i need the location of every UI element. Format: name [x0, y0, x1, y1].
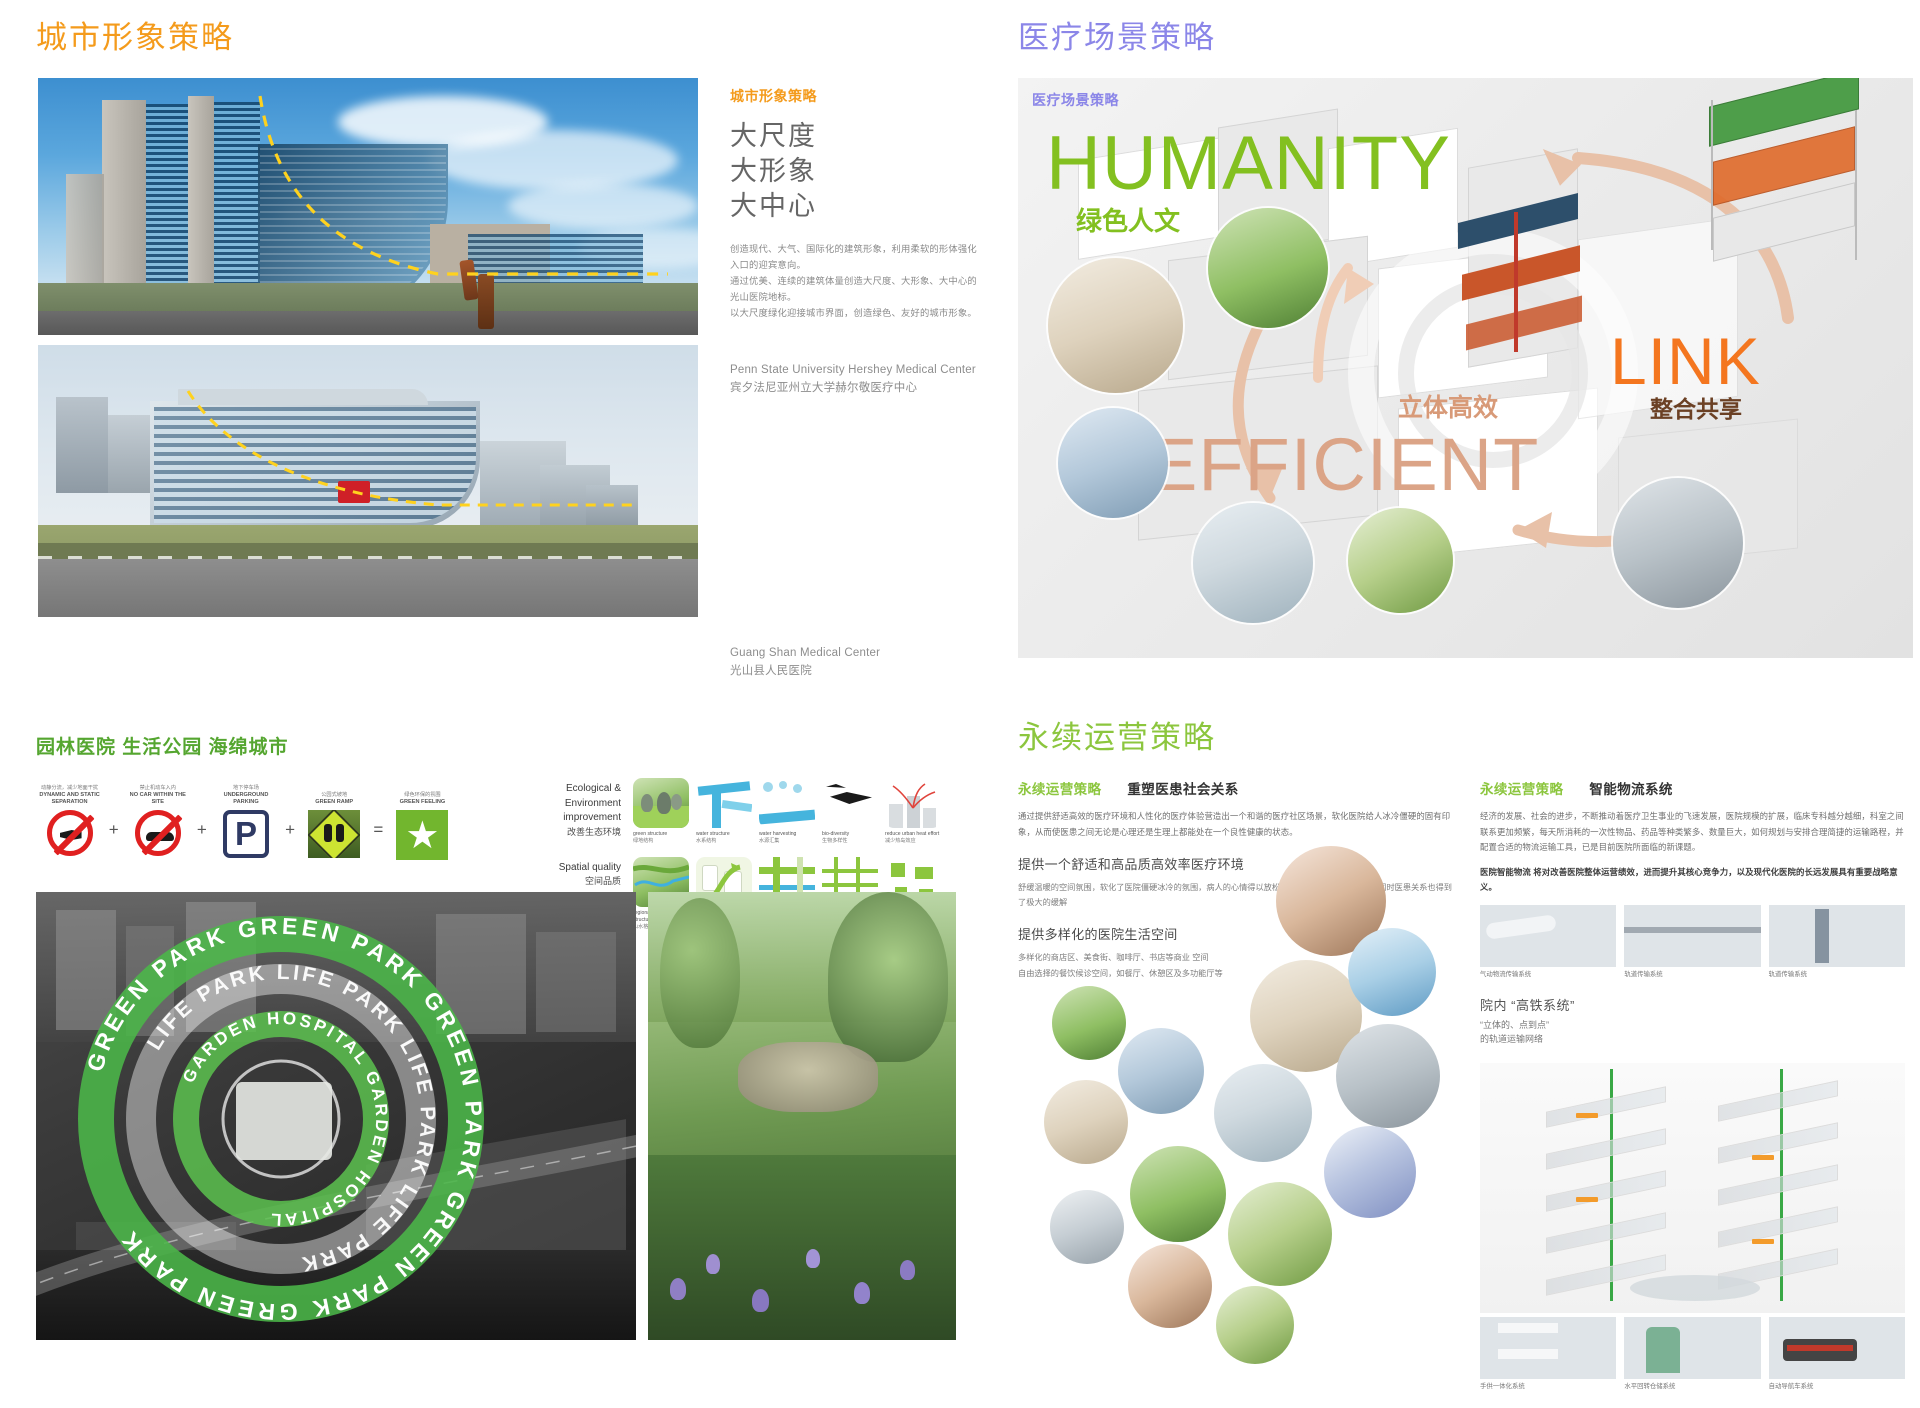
logistics-thumb: 水平回转仓储系统 [1624, 1317, 1760, 1391]
garden-heading: 园林医院 生活公园 海绵城市 [36, 732, 289, 759]
exploded-module-diagram [1679, 88, 1889, 268]
eq-item-parking: 地下停车场 UNDERGROUND PARKING P [212, 785, 279, 858]
no-car-icon [132, 810, 184, 858]
caption-hershey: Penn State University Hershey Medical Ce… [730, 362, 976, 398]
photo-pneumatic-tube [1480, 905, 1616, 967]
photo-garden-iris [648, 892, 956, 1340]
city-strategy-paragraph: 创造现代、大气、国际化的建筑形象，利用柔软的形体强化入口的迎宾意向。 通过优美、… [730, 242, 980, 322]
eq-label-en-1: NO CAR WITHIN THE SITE [124, 792, 191, 807]
circle-photo-corridor [1058, 408, 1168, 518]
bubble-photo-flowers [1324, 1126, 1416, 1218]
sustain-left-subbody-1: 舒缓温暖的空间氛围，软化了医院僵硬冰冷的氛围，病人的心情得以放松，达到了心灵疗愈… [1018, 880, 1453, 910]
eq-item-green-feeling: 绿色环保的氛围 GREEN FEELING ★ [389, 792, 456, 858]
panel-garden-hospital: 园林医院 生活公园 海绵城市 动静分流，减少地面干扰 DYNAMIC AND S… [0, 700, 990, 1358]
logistics-thumb: 气动物流传输系统 [1480, 905, 1616, 979]
matrix-row-ecological: Ecological & Environment improvement 改善生… [515, 778, 955, 845]
sustain-left-column: 永续运营策略 重塑医患社会关系 通过提供舒适高效的医疗环境和人性化的医疗体验营造… [1018, 778, 1453, 981]
icon-green-structure [633, 778, 689, 828]
photo-agv-robot [1769, 1317, 1905, 1379]
matrix-cell: reduce urban heat effort减少热岛效应 [885, 778, 941, 845]
no-horn-icon [44, 810, 96, 858]
sustain-left-brand: 永续运营策略 [1018, 778, 1101, 798]
photo-track-transport-1 [1624, 905, 1760, 967]
hospital-hsr-diagram [1480, 1063, 1905, 1313]
circle-photo-garden [1348, 508, 1453, 613]
city-big-line-3: 大中心 [730, 189, 980, 224]
caption-guangshan: Guang Shan Medical Center 光山县人民医院 [730, 645, 880, 681]
logistics-thumb: 手供一体化系统 [1480, 1317, 1616, 1391]
matrix-label-zh-0: 改善生态环境 [515, 826, 621, 839]
matrix-label-en-0: Ecological & Environment improvement [515, 782, 621, 826]
operator-plus-1: + [103, 820, 124, 858]
sustain-left-topic: 重塑医患社会关系 [1127, 778, 1238, 798]
photo-guang-shan-medical-center [38, 345, 698, 617]
strategy-equation-row: 动静分流，减少地面干扰 DYNAMIC AND STATIC SEPARATIO… [36, 780, 456, 858]
bubble-photo-atrium [1050, 1190, 1124, 1264]
icon-water-harvesting [759, 778, 815, 828]
operator-plus-3: + [280, 820, 301, 858]
panel-sustainable-operations: 永续运营策略 永续运营策略 重塑医患社会关系 通过提供舒适高效的医疗环境和人性化… [1000, 700, 1920, 1358]
matrix-cap-en-0-2: water harvesting [759, 831, 815, 838]
matrix-cap-en-0-0: green structure [633, 831, 689, 838]
sustain-left-intro: 通过提供舒适高效的医疗环境和人性化的医疗体验营造出一个和谐的医疗社区场景，软化医… [1018, 809, 1453, 840]
eq-item-no-car: 禁止机动车入内 NO CAR WITHIN THE SITE [124, 785, 191, 858]
bubble-photo-pool [1348, 928, 1436, 1016]
matrix-cap-en-0-4: reduce urban heat effort [885, 831, 941, 838]
eq-label-en-0: DYNAMIC AND STATIC SEPARATION [36, 792, 103, 807]
logistics-thumb: 轨道传输系统 [1769, 905, 1905, 979]
eq-label-en-4: GREEN FEELING [389, 799, 456, 807]
eq-label-en-2: UNDERGROUND PARKING [212, 792, 279, 807]
parking-icon: P [220, 810, 272, 858]
matrix-cell: green structure绿地结构 [633, 778, 689, 845]
matrix-label-en-1: Spatial quality [515, 861, 621, 876]
photo-horizontal-carousel [1624, 1317, 1760, 1379]
matrix-cap-zh-0-4: 减少热岛效应 [885, 838, 916, 844]
eq-label-zh-3: 公园式坡地 [321, 792, 347, 798]
bubble-photo-consult [1118, 1028, 1204, 1114]
logistics-caption-bottom-0: 手供一体化系统 [1480, 1383, 1616, 1391]
photo-aerial-green-park: GREEN PARK GREEN PARK GREEN PARK GREEN P… [36, 892, 636, 1340]
bubble-photo-plaza [1214, 1064, 1312, 1162]
city-big-line-2: 大形象 [730, 154, 980, 189]
section-title-sustain: 永续运营策略 [1018, 722, 1216, 753]
matrix-cap-en-0-3: bio-diversity [822, 831, 878, 838]
matrix-cap-zh-0-1: 水系结构 [696, 838, 716, 844]
eq-label-zh-2: 地下停车场 [233, 785, 259, 791]
bubble-photo-elderly [1128, 1244, 1212, 1328]
matrix-label-zh-1: 空间品质 [515, 875, 621, 888]
keyword-efficient: EFFICIENT 立体高效 [1148, 428, 1539, 502]
eq-label-zh-0: 动静分流，减少地面干扰 [41, 785, 98, 791]
photo-hershey-medical-center [38, 78, 698, 335]
keyword-efficient-zh: 立体高效 [1398, 396, 1498, 421]
matrix-cap-zh-0-3: 生物多样性 [822, 838, 847, 844]
keyword-link-zh: 整合共享 [1650, 398, 1761, 421]
sustain-right-intro2: 医院智能物流 将对改善医院整体运营绩效，进而提升其核心竞争力，以及现代化医院的长… [1480, 865, 1905, 896]
sustain-right-brand: 永续运营策略 [1480, 778, 1563, 798]
logistics-caption-top-0: 气动物流传输系统 [1480, 971, 1616, 979]
matrix-cap-zh-0-0: 绿地结构 [633, 838, 653, 844]
green-star-icon: ★ [396, 810, 448, 858]
bubble-photo-cluster [1018, 968, 1453, 1408]
matrix-cell: water harvesting水源汇集 [759, 778, 815, 845]
stacked-slabs-diagram [1448, 188, 1638, 378]
sustain-right-intro: 经济的发展、社会的进步，不断推动着医疗卫生事业的飞速发展，医院规模的扩展，临床专… [1480, 809, 1905, 856]
matrix-cell: water structure水系结构 [696, 778, 752, 845]
matrix-cell: bio-diversity生物多样性 [822, 778, 878, 845]
icon-reduce-heat-island [885, 778, 941, 828]
circle-photo-waiting-area [1193, 503, 1313, 623]
matrix-cap-zh-0-2: 水源汇集 [759, 838, 779, 844]
logistics-diagram-title: 院内 “高铁系统” [1480, 995, 1905, 1014]
eq-label-zh-1: 禁止机动车入内 [140, 785, 176, 791]
operator-equals: = [368, 820, 389, 858]
logistics-thumbs-bottom: 手供一体化系统 水平回转仓储系统 自动导航车系统 [1480, 1317, 1905, 1391]
section-title-city: 城市形象策略 [36, 22, 234, 53]
sustain-right-topic: 智能物流系统 [1589, 778, 1672, 798]
panel-city-image-strategy: 城市形象策略 [0, 0, 990, 700]
logistics-thumb: 自动导航车系统 [1769, 1317, 1905, 1391]
presentation-board: 城市形象策略 [0, 0, 1920, 1358]
sustain-left-subtitle-1: 提供一个舒适和高品质高效率医疗环境 [1018, 854, 1453, 873]
caption-guangshan-zh: 光山县人民医院 [730, 663, 880, 681]
bubble-photo-terrace [1228, 1182, 1332, 1286]
logistics-caption-top-2: 轨道传输系统 [1769, 971, 1905, 979]
bubble-photo-field [1052, 986, 1126, 1060]
icon-bio-diversity [822, 778, 878, 828]
caption-guangshan-en: Guang Shan Medical Center [730, 645, 880, 663]
eq-item-no-horn: 动静分流，减少地面干扰 DYNAMIC AND STATIC SEPARATIO… [36, 785, 103, 858]
keyword-humanity-en: HUMANITY [1046, 126, 1451, 202]
green-ramp-icon [308, 810, 360, 858]
medical-scene-diagram: 医疗场景策略 HUMANITY 绿色人文 EFFICIENT 立体高效 LINK… [1018, 78, 1913, 658]
operator-plus-2: + [191, 820, 212, 858]
photo-track-transport-2 [1769, 905, 1905, 967]
caption-hershey-en: Penn State University Hershey Medical Ce… [730, 362, 976, 380]
eq-label-en-3: GREEN RAMP [301, 799, 368, 807]
matrix-cap-en-0-1: water structure [696, 831, 752, 838]
bubble-photo-courtyard [1130, 1146, 1226, 1242]
eq-item-green-ramp: 公园式坡地 GREEN RAMP [301, 792, 368, 858]
bubble-photo-lawn [1216, 1286, 1294, 1364]
circle-photo-lobby-green [1208, 208, 1328, 328]
eq-label-zh-4: 绿色环保的氛围 [404, 792, 440, 798]
city-big-line-1: 大尺度 [730, 119, 980, 154]
logistics-thumbs-top: 气动物流传输系统 轨道传输系统 轨道传输系统 [1480, 905, 1905, 979]
medical-kicker: 医疗场景策略 [1032, 90, 1119, 110]
circle-photo-patient-room [1048, 258, 1183, 393]
bubble-photo-ward [1044, 1080, 1128, 1164]
logistics-caption-bottom-1: 水平回转仓储系统 [1624, 1383, 1760, 1391]
photo-integrated-supply [1480, 1317, 1616, 1379]
logistics-thumb: 轨道传输系统 [1624, 905, 1760, 979]
section-title-medical: 医疗场景策略 [1018, 22, 1216, 53]
circle-photo-streetscape [1613, 478, 1743, 608]
logistics-caption-top-1: 轨道传输系统 [1624, 971, 1760, 979]
city-strategy-kicker: 城市形象策略 [730, 86, 980, 106]
caption-hershey-zh: 宾夕法尼亚州立大学赫尔敬医疗中心 [730, 380, 976, 398]
logistics-caption-bottom-2: 自动导航车系统 [1769, 1383, 1905, 1391]
panel-medical-scene-strategy: 医疗场景策略 [1000, 0, 1920, 700]
bubble-photo-residential [1336, 1024, 1440, 1128]
logistics-diagram-sub: “立体的、点到点” 的轨道运输网络 [1480, 1018, 1905, 1047]
city-strategy-text-block: 城市形象策略 大尺度 大形象 大中心 创造现代、大气、国际化的建筑形象，利用柔软… [730, 86, 980, 322]
icon-water-structure [696, 778, 752, 828]
keyword-efficient-en: EFFICIENT [1148, 428, 1539, 502]
sustain-right-column: 永续运营策略 智能物流系统 经济的发展、社会的进步，不断推动着医疗卫生事业的飞速… [1480, 778, 1905, 1391]
